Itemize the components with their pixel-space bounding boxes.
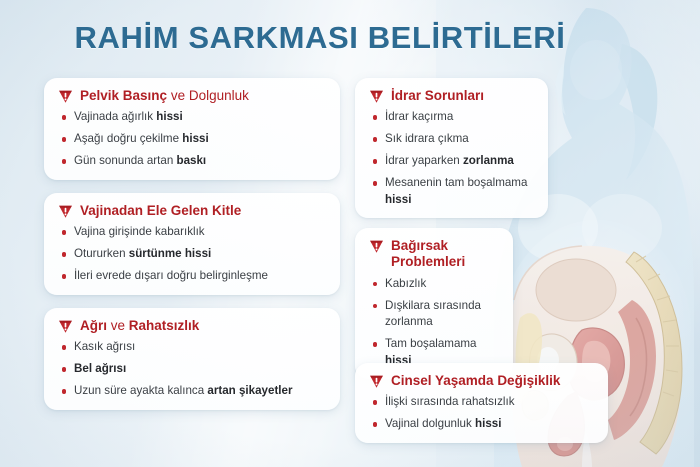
symptom-list: İdrar kaçırmaSık idrara çıkmaİdrar yapar… [369,109,536,208]
warning-triangle-down-icon [58,319,73,334]
symptom-list-item: Bel ağrısı [58,361,328,377]
symptom-list-item: Uzun süre ayakta kalınca artan şikayetle… [58,383,328,399]
infographic-poster: RAHİM SARKMASI BELİRTİLERİ Pelvik Basınç… [0,0,700,467]
symptom-list-item: Kasık ağrısı [58,339,328,355]
card-header: Ağrı ve Rahatsızlık [58,318,328,334]
face-profile-highlight [555,62,566,116]
symptom-card-pelvic: Pelvik Basınç ve Dolgunluk Vajinada ağır… [44,78,340,180]
plain-text: Vajinal dolgunluk [385,417,475,430]
plain-text: İdrar kaçırma [385,110,453,123]
symptom-list-item: Mesanenin tam boşalmama hissi [369,175,536,208]
plain-text: Aşağı doğru çekilme [74,132,182,145]
card-title: İdrar Sorunları [391,88,484,104]
symptom-card-urinary: İdrar Sorunları İdrar kaçırmaSık idrara … [355,78,548,218]
symptom-list-item: Kabızlık [369,276,501,292]
emphasis-text: Cinsel Yaşamda Değişiklik [391,373,560,388]
symptom-list-item: Dışkilara sırasında zorlanma [369,298,501,331]
rectum-shape [608,300,656,440]
symptom-card-sexual: Cinsel Yaşamda Değişiklik İlişki sırasın… [355,363,608,443]
symptom-list: Vajina girişinde kabarıklıkOtururken sür… [58,224,328,284]
card-header: Vajinadan Ele Gelen Kitle [58,203,328,219]
plain-text: Dışkilara sırasında zorlanma [385,299,481,328]
plain-text: Otururken [74,247,129,260]
symptom-list-item: İdrar kaçırma [369,109,536,125]
emphasis-text: Vajinadan Ele Gelen Kitle [80,203,241,218]
emphasis-text: zorlanma [463,154,514,167]
card-title: Cinsel Yaşamda Değişiklik [391,373,560,389]
symptom-list-item: İleri evrede dışarı doğru belirginleşme [58,268,328,284]
emphasis-text: sürtünme hissi [129,247,211,260]
warning-triangle-down-icon [58,204,73,219]
card-title: Bağırsak Problemleri [391,238,501,271]
symptom-card-bowel: Bağırsak Problemleri KabızlıkDışkilara s… [355,228,513,379]
plain-text: Mesanenin tam boşalmama [385,176,527,189]
plain-text: Kabızlık [385,277,426,290]
rectum-fold [630,318,647,416]
plain-text: İleri evrede dışarı doğru belirginleşme [74,269,268,282]
symptom-list: Kasık ağrısıBel ağrısıUzun süre ayakta k… [58,339,328,399]
page-title: RAHİM SARKMASI BELİRTİLERİ [0,22,640,55]
emphasis-text: Pelvik Basınç [80,88,167,103]
emphasis-text: baskı [177,154,207,167]
emphasis-text: İdrar Sorunları [391,88,484,103]
card-header: Cinsel Yaşamda Değişiklik [369,373,596,389]
warning-triangle-down-icon [369,89,384,104]
emphasis-text: Rahatsızlık [129,318,200,333]
symptom-card-pain: Ağrı ve Rahatsızlık Kasık ağrısıBel ağrı… [44,308,340,410]
symptom-list-item: Gün sonunda artan baskı [58,153,328,169]
plain-text: İdrar yaparken [385,154,463,167]
card-title: Ağrı ve Rahatsızlık [80,318,199,334]
plain-text: Vajinada ağırlık [74,110,156,123]
plain-text: Gün sonunda artan [74,154,177,167]
plain-text: Vajina girişinde kabarıklık [74,225,205,238]
card-header: Pelvik Basınç ve Dolgunluk [58,88,328,104]
plain-text: ve Dolgunluk [167,88,249,103]
symptom-list: Vajinada ağırlık hissiAşağı doğru çekilm… [58,109,328,169]
card-title: Pelvik Basınç ve Dolgunluk [80,88,249,104]
emphasis-text: Ağrı [80,318,107,333]
symptom-list: KabızlıkDışkilara sırasında zorlanmaTam … [369,276,501,369]
plain-text: Kasık ağrısı [74,340,135,353]
warning-triangle-down-icon [369,239,384,254]
symptom-list-item: Vajina girişinde kabarıklık [58,224,328,240]
warning-triangle-down-icon [369,374,384,389]
symptom-list-item: Vajinada ağırlık hissi [58,109,328,125]
symptom-list-item: Vajinal dolgunluk hissi [369,416,596,432]
symptom-list-item: Aşağı doğru çekilme hissi [58,131,328,147]
card-header: İdrar Sorunları [369,88,536,104]
emphasis-text: artan şikayetler [207,384,292,397]
emphasis-text: hissi [385,193,411,206]
symptom-list-item: Sık idrara çıkma [369,131,536,147]
plain-text: Tam boşalamama [385,337,477,350]
sacrum-spine [626,252,682,454]
emphasis-text: hissi [182,132,208,145]
symptom-card-mass: Vajinadan Ele Gelen Kitle Vajina girişin… [44,193,340,295]
emphasis-text: hissi [475,417,501,430]
symptom-list: İlişki sırasında rahatsızlıkVajinal dolg… [369,394,596,432]
symptom-list-item: Otururken sürtünme hissi [58,246,328,262]
plain-text: ve [107,318,129,333]
symptom-list-item: İdrar yaparken zorlanma [369,153,536,169]
ponytail-shape [618,44,657,180]
symptom-list-item: İlişki sırasında rahatsızlık [369,394,596,410]
card-header: Bağırsak Problemleri [369,238,501,271]
intestine-loops [536,259,616,321]
plain-text: Sık idrara çıkma [385,132,469,145]
plain-text: İlişki sırasında rahatsızlık [385,395,515,408]
abdominal-wall-outline [514,246,582,300]
card-title: Vajinadan Ele Gelen Kitle [80,203,241,219]
emphasis-text: Bağırsak Problemleri [391,238,465,269]
plain-text: Uzun süre ayakta kalınca [74,384,207,397]
warning-triangle-down-icon [58,89,73,104]
emphasis-text: Bel ağrısı [74,362,126,375]
emphasis-text: hissi [156,110,182,123]
